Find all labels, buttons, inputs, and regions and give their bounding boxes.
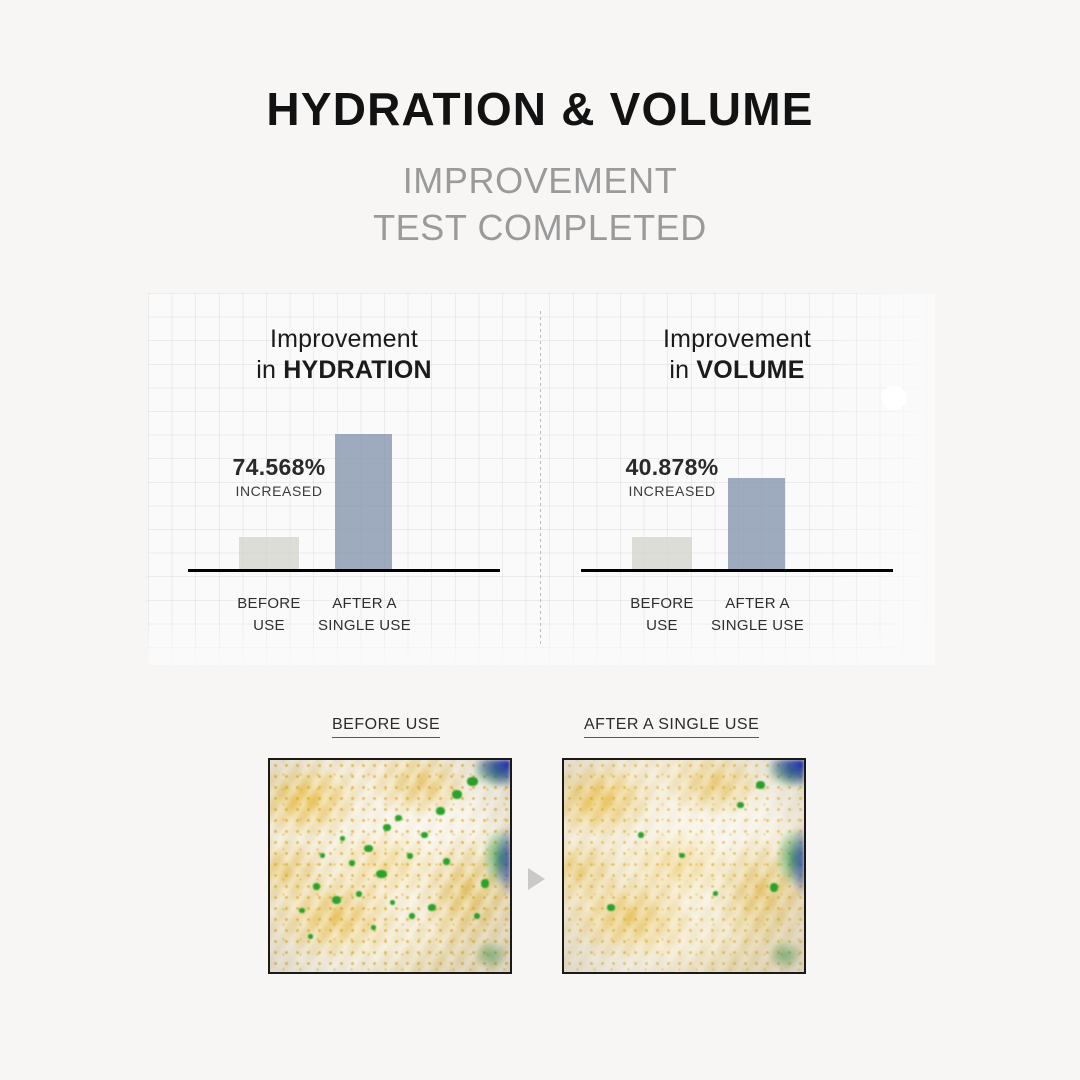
bar-label-after: AFTER A SINGLE USE bbox=[689, 593, 826, 637]
bar-label-after: AFTER A SINGLE USE bbox=[296, 593, 433, 637]
chart-title-line-2: in VOLUME bbox=[541, 355, 933, 386]
caption-after-single-use: AFTER A SINGLE USE bbox=[584, 716, 759, 738]
skin-image-before bbox=[268, 758, 512, 974]
bar-before-volume bbox=[632, 537, 692, 569]
skin-image-after bbox=[562, 758, 806, 974]
page-subtitle: IMPROVEMENT TEST COMPLETED bbox=[0, 132, 1080, 252]
chart-panel-volume: Improvement in VOLUME 40.878% INCREASED … bbox=[541, 293, 933, 665]
axis-baseline-volume bbox=[581, 569, 893, 572]
bar-label-line: SINGLE USE bbox=[296, 615, 433, 637]
comparison-section: BEFORE USE AFTER A SINGLE USE bbox=[0, 716, 1080, 746]
chart-title-hydration: Improvement in HYDRATION bbox=[148, 324, 540, 385]
chart-title-strong: HYDRATION bbox=[283, 356, 432, 384]
bar-after-volume bbox=[728, 478, 785, 569]
chart-title-line-2: in HYDRATION bbox=[148, 355, 540, 386]
page-header: HYDRATION & VOLUME IMPROVEMENT TEST COMP… bbox=[0, 0, 1080, 252]
chart-panel-hydration: Improvement in HYDRATION 74.568% INCREAS… bbox=[148, 293, 540, 665]
bar-label-line: AFTER A bbox=[689, 593, 826, 615]
bar-labels-volume: BEFORE USE AFTER A SINGLE USE bbox=[541, 593, 933, 649]
bar-label-line: SINGLE USE bbox=[689, 615, 826, 637]
chart-title-prefix: in bbox=[256, 356, 283, 384]
bar-labels-hydration: BEFORE USE AFTER A SINGLE USE bbox=[148, 593, 540, 649]
caption-before-use: BEFORE USE bbox=[332, 716, 440, 738]
chart-title-line-1: Improvement bbox=[148, 324, 540, 355]
panel-divider bbox=[540, 311, 541, 647]
annotation-value: 40.878% bbox=[577, 455, 767, 480]
page-subtitle-line-2: TEST COMPLETED bbox=[0, 205, 1080, 252]
bar-label-line: AFTER A bbox=[296, 593, 433, 615]
chart-panel: Improvement in HYDRATION 74.568% INCREAS… bbox=[148, 293, 935, 665]
chart-title-prefix: in bbox=[669, 356, 696, 384]
axis-baseline-hydration bbox=[188, 569, 500, 572]
decorative-dot-icon bbox=[881, 386, 907, 410]
page-subtitle-line-1: IMPROVEMENT bbox=[0, 158, 1080, 205]
bar-before-hydration bbox=[239, 537, 299, 569]
play-triangle-right-icon bbox=[528, 868, 545, 890]
comparison-captions: BEFORE USE AFTER A SINGLE USE bbox=[0, 716, 1080, 746]
bar-after-hydration bbox=[335, 434, 392, 569]
chart-title-volume: Improvement in VOLUME bbox=[541, 324, 933, 385]
chart-title-strong: VOLUME bbox=[696, 356, 804, 384]
chart-title-line-1: Improvement bbox=[541, 324, 933, 355]
page-title: HYDRATION & VOLUME bbox=[0, 0, 1080, 132]
